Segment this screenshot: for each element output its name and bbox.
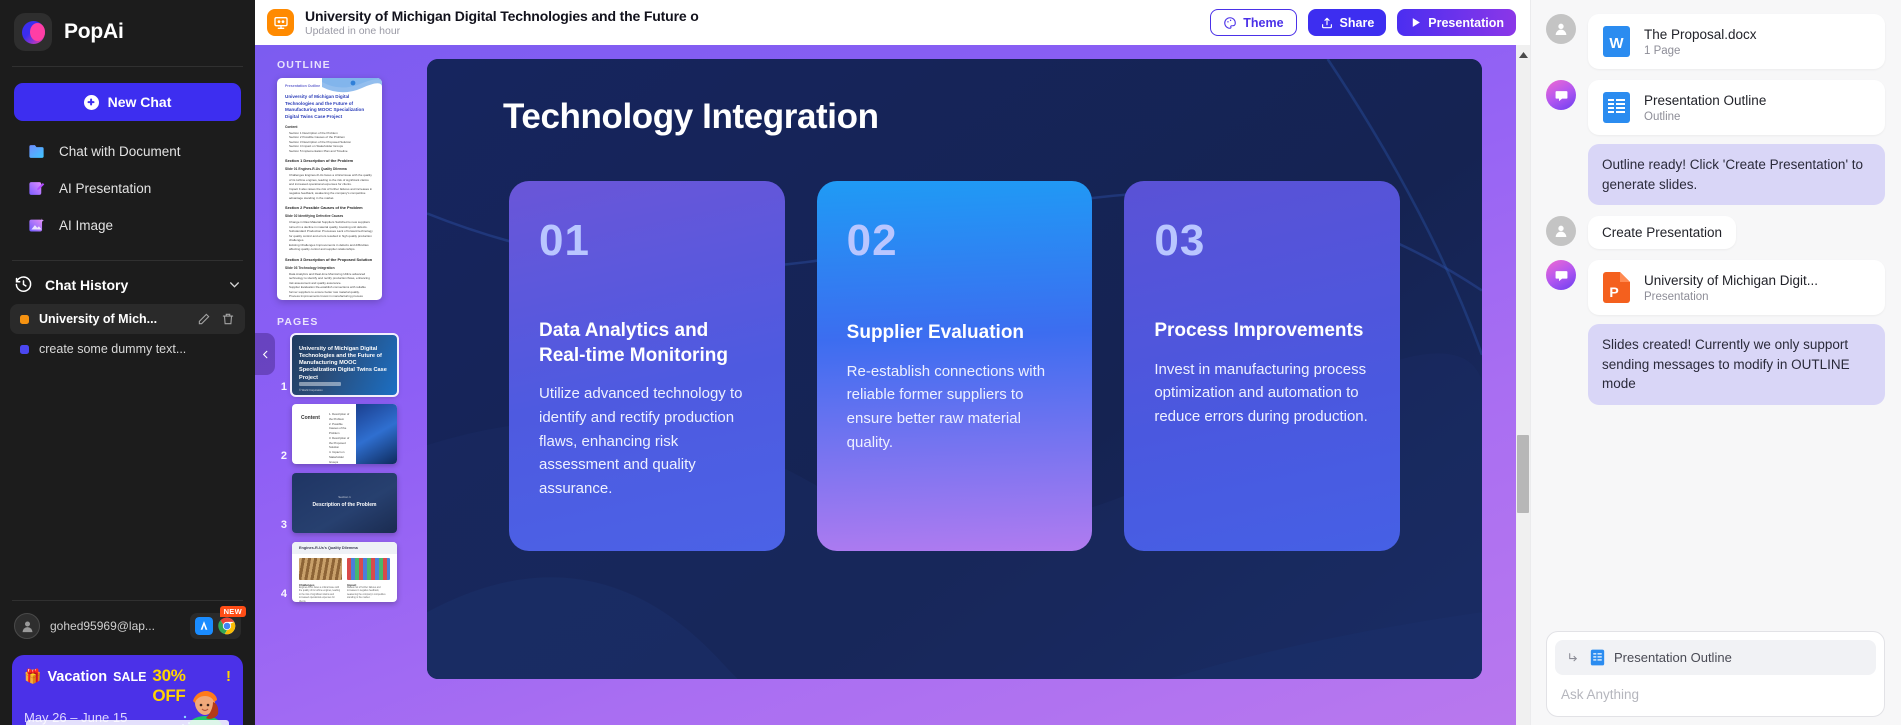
pencil-icon[interactable]: [197, 312, 211, 326]
outline-doc-icon: [1590, 649, 1605, 666]
panel-divider: [1530, 0, 1531, 725]
outline-preview-card[interactable]: Presentation Outline University of Michi…: [277, 78, 382, 300]
thumbnail-image: [299, 558, 342, 580]
file-attachment-card[interactable]: W The Proposal.docx 1 Page: [1588, 14, 1885, 69]
chat-message-bot-outline: Presentation Outline Outline Outline rea…: [1546, 80, 1885, 205]
popai-logo-icon: [14, 13, 52, 51]
slide-canvas-wrap: Technology Integration 01 Data Analytics…: [420, 45, 1530, 725]
presentation-pencil-icon: [27, 179, 46, 198]
history-dot: [20, 315, 29, 324]
thumbnail-item: 2. Possible Causes of the Problem: [329, 422, 351, 436]
sidebar-item-ai-presentation[interactable]: AI Presentation: [0, 170, 255, 207]
thumbnail-image: [347, 558, 390, 580]
gift-icon: 🎁: [24, 669, 41, 683]
svg-text:W: W: [1609, 35, 1624, 52]
file-meta: Outline: [1644, 111, 1871, 123]
card-number: 02: [847, 219, 1063, 263]
outline-card-section-title: Section 3 Description of the Proposed So…: [285, 257, 374, 262]
brand-name: PopAi: [64, 20, 124, 44]
bot-avatar-icon: [1546, 260, 1576, 290]
page-thumbnail-3[interactable]: Section 1 Description of the Problem: [292, 473, 397, 533]
composer-context-label: Presentation Outline: [1614, 650, 1732, 665]
bot-avatar-icon: [1546, 80, 1576, 110]
outline-card-bullet: Challenges Engines-R-Us faces a critical…: [289, 173, 374, 187]
outline-card-section-title: Section 2 Possible Causes of the Problem: [285, 205, 374, 210]
palette-icon: [1223, 16, 1237, 30]
share-upload-icon: [1320, 16, 1334, 30]
outline-card-slide-title: Slide 02 Identifying Defective Causes: [285, 214, 374, 218]
outline-card-bullet: Substandard Production Processes Lack of…: [289, 229, 374, 243]
share-label: Share: [1340, 16, 1375, 30]
slide-scrollbar[interactable]: [1516, 45, 1530, 725]
thumbnail-number: 4: [277, 588, 287, 602]
card-number: 03: [1154, 219, 1370, 263]
sidebar-item-label: Chat with Document: [59, 144, 181, 159]
plus-icon: [84, 95, 99, 110]
card-heading: Data Analytics and Real-time Monitoring: [539, 319, 755, 368]
outline-card-bullet: Impact It also raises the risk of furthe…: [289, 187, 374, 201]
thumbnail-caption: © World Corporation: [299, 389, 323, 392]
outline-card-item: Section 5 Implementation Plan and Timeli…: [289, 149, 374, 154]
return-arrow-icon: [1566, 651, 1581, 664]
theme-label: Theme: [1243, 16, 1283, 30]
presentation-attachment-card[interactable]: P University of Michigan Digit... Presen…: [1588, 260, 1885, 315]
app-store-icon[interactable]: [195, 617, 213, 635]
scroll-up-arrow-icon[interactable]: [1516, 50, 1530, 60]
chat-message-user-text: Create Presentation: [1546, 216, 1885, 249]
chat-input[interactable]: Ask Anything: [1555, 675, 1876, 708]
card-number: 01: [539, 219, 755, 263]
outline-card-bullet: Supplier Evaluation Re-establish connect…: [289, 285, 374, 294]
card-body: Invest in manufacturing process optimiza…: [1154, 358, 1370, 429]
page-thumbnail-1[interactable]: University of Michigan Digital Technolog…: [292, 335, 397, 395]
user-row[interactable]: gohed95969@lap... NEW: [0, 601, 255, 651]
card-heading: Process Improvements: [1154, 319, 1370, 344]
thumbnail-caption-body: Raises risk of further failures and incr…: [347, 587, 390, 601]
history-item-label: create some dummy text...: [39, 342, 235, 356]
chat-messages: W The Proposal.docx 1 Page: [1530, 0, 1901, 631]
file-meta: 1 Page: [1644, 45, 1871, 57]
person-avatar-icon: [14, 613, 40, 639]
chat-history-item-dummy-text[interactable]: create some dummy text...: [10, 334, 245, 364]
brand[interactable]: PopAi: [0, 0, 255, 64]
chat-history-header[interactable]: Chat History: [0, 261, 255, 304]
history-clock-icon: [14, 275, 33, 294]
chat-message-user-file: W The Proposal.docx 1 Page: [1546, 14, 1885, 69]
new-chat-button[interactable]: New Chat: [14, 83, 241, 121]
share-button[interactable]: Share: [1308, 9, 1387, 36]
outline-card-slide-title: Slide 03 Technology Integration: [285, 266, 374, 270]
promo-vacation: Vacation: [47, 669, 107, 685]
outline-card-bullet: Process Improvements Invest in manufactu…: [289, 294, 374, 300]
presentation-board-icon: [267, 9, 294, 36]
outline-card-bullet: Change in Raw Material Suppliers Switche…: [289, 220, 374, 229]
slide-card-2[interactable]: 02 Supplier Evaluation Re-establish conn…: [817, 181, 1093, 551]
thumbnail-title: University of Michigan Digital Technolog…: [299, 346, 390, 382]
slide-cards: 01 Data Analytics and Real-time Monitori…: [509, 181, 1400, 551]
person-avatar-icon: [1546, 14, 1576, 44]
slide-stage: OUTLINE Presentation Outline University …: [255, 45, 1530, 725]
bot-note-bubble: Outline ready! Click 'Create Presentatio…: [1588, 144, 1885, 205]
thumbnail-accent-bar: [299, 382, 341, 386]
outline-pages-rail: OUTLINE Presentation Outline University …: [255, 45, 420, 725]
thumbnail-title: Engines-R-Us's Quality Dilemma: [292, 542, 397, 554]
new-badge: NEW: [220, 606, 246, 617]
thumbnail-image: [356, 404, 397, 464]
outline-card-bullet: Existing Challenges Improvements in defe…: [289, 243, 374, 252]
outline-card-slide-title: Slide 01 Engines-R-Us Quality Dilemma: [285, 167, 374, 171]
thumbnail-item: 4. Impact on Stakeholder Groups: [329, 450, 351, 464]
outline-card-content-label: Content: [285, 125, 374, 129]
thumbnail-number: 2: [277, 450, 287, 464]
outline-attachment-card[interactable]: Presentation Outline Outline: [1588, 80, 1885, 135]
page-title: University of Michigan Digital Technolog…: [305, 8, 699, 24]
popai-app: PopAi New Chat Chat with Document: [0, 0, 1901, 725]
thumbnail-row: 2 Content 1. Description of the Problem …: [277, 404, 420, 464]
promo-underbar: [26, 720, 229, 725]
file-name: University of Michigan Digit...: [1644, 273, 1871, 288]
sidebar-item-chat-with-document[interactable]: Chat with Document: [0, 133, 255, 170]
history-item-label: University of Mich...: [39, 312, 187, 326]
chat-panel: W The Proposal.docx 1 Page: [1530, 0, 1901, 725]
chat-history-title: Chat History: [45, 277, 216, 293]
powerpoint-icon: P: [1602, 271, 1631, 304]
word-doc-icon: W: [1602, 25, 1631, 58]
pages-section-label: PAGES: [277, 316, 420, 328]
thumbnail-item: 1. Description of the Problem: [329, 412, 351, 422]
slide-canvas[interactable]: Technology Integration 01 Data Analytics…: [427, 59, 1482, 679]
thumbnail-row: 1 University of Michigan Digital Technol…: [277, 335, 420, 395]
presentation-label: Presentation: [1428, 16, 1504, 30]
svg-text:P: P: [1609, 284, 1618, 300]
composer-context-chip[interactable]: Presentation Outline: [1555, 640, 1876, 675]
sidebar-nav: Chat with Document AI Presentation AI Im…: [0, 133, 255, 244]
scrollbar-thumb[interactable]: [1517, 435, 1529, 513]
top-toolbar: University of Michigan Digital Technolog…: [255, 0, 1530, 45]
promo-sale: SALE: [113, 670, 146, 684]
page-thumbnail-2[interactable]: Content 1. Description of the Problem 2.…: [292, 404, 397, 464]
person-avatar-icon: [1546, 216, 1576, 246]
file-meta: Presentation: [1644, 291, 1871, 303]
thumbnail-caption-body: Engines-R-Us faces a critical issue with…: [299, 587, 342, 602]
chat-composer: Presentation Outline Ask Anything: [1546, 631, 1885, 717]
editor-area: University of Michigan Digital Technolog…: [255, 0, 1530, 725]
chrome-icon[interactable]: [218, 617, 236, 635]
bot-note-bubble: Slides created! Currently we only suppor…: [1588, 324, 1885, 405]
outline-section-label: OUTLINE: [277, 59, 420, 71]
divider: [12, 66, 243, 67]
promo-exclaim: !: [226, 668, 231, 685]
card-body: Re-establish connections with reliable f…: [847, 360, 1063, 455]
card-heading: Supplier Evaluation: [847, 321, 1063, 346]
chat-history-item-university[interactable]: University of Mich...: [10, 304, 245, 334]
image-sparkle-icon: [27, 216, 46, 235]
presentation-button[interactable]: Presentation: [1397, 9, 1516, 36]
chevron-down-icon[interactable]: [228, 278, 241, 291]
slide-card-3[interactable]: 03 Process Improvements Invest in manufa…: [1124, 181, 1400, 551]
theme-button[interactable]: Theme: [1210, 9, 1296, 36]
page-thumbnails: 1 University of Michigan Digital Technol…: [277, 335, 420, 602]
outline-card-section-title: Section 1 Description of the Problem: [285, 158, 374, 163]
outline-card-wave: [322, 78, 382, 104]
outline-card-bullet: Data Analytics and Real-time Monitoring …: [289, 272, 374, 286]
trash-icon[interactable]: [221, 312, 235, 326]
play-icon: [1409, 16, 1422, 29]
chevron-left-icon: [260, 347, 271, 362]
page-thumbnail-4[interactable]: Engines-R-Us's Quality Dilemma Challenge…: [292, 542, 397, 602]
document-folder-icon: [27, 142, 46, 161]
file-name: The Proposal.docx: [1644, 27, 1871, 42]
thumbnail-item: 3. Description of the Proposed Solution: [329, 436, 351, 450]
user-message-bubble: Create Presentation: [1588, 216, 1736, 249]
thumbnail-number: 1: [277, 381, 287, 395]
slide-card-1[interactable]: 01 Data Analytics and Real-time Monitori…: [509, 181, 785, 551]
card-body: Utilize advanced technology to identify …: [539, 382, 755, 500]
history-dot: [20, 345, 29, 354]
thumbnail-number: 3: [277, 519, 287, 533]
vacation-sale-banner[interactable]: 🎁 Vacation SALE 30% OFF ! May 26 – June …: [12, 655, 243, 725]
sidebar-bottom: gohed95969@lap... NEW: [0, 600, 255, 725]
thumbnail-row: 3 Section 1 Description of the Problem: [277, 473, 420, 533]
thumbnail-title: Description of the Problem: [292, 502, 397, 508]
sidebar-item-label: AI Presentation: [59, 181, 151, 196]
rail-collapse-button[interactable]: [255, 333, 275, 375]
thumbnail-row: 4 Engines-R-Us's Quality Dilemma Challen…: [277, 542, 420, 602]
new-chat-label: New Chat: [108, 94, 172, 110]
slide-title: Technology Integration: [503, 97, 879, 137]
chat-message-bot-presentation: P University of Michigan Digit... Presen…: [1546, 260, 1885, 405]
left-sidebar: PopAi New Chat Chat with Document: [0, 0, 255, 725]
file-name: Presentation Outline: [1644, 93, 1871, 108]
sidebar-item-label: AI Image: [59, 218, 113, 233]
outline-doc-icon: [1602, 91, 1631, 124]
updated-status: Updated in one hour: [305, 25, 699, 37]
thumbnail-eyebrow: Section 1: [292, 495, 397, 499]
user-email: gohed95969@lap...: [50, 619, 180, 633]
sidebar-item-ai-image[interactable]: AI Image: [0, 207, 255, 244]
